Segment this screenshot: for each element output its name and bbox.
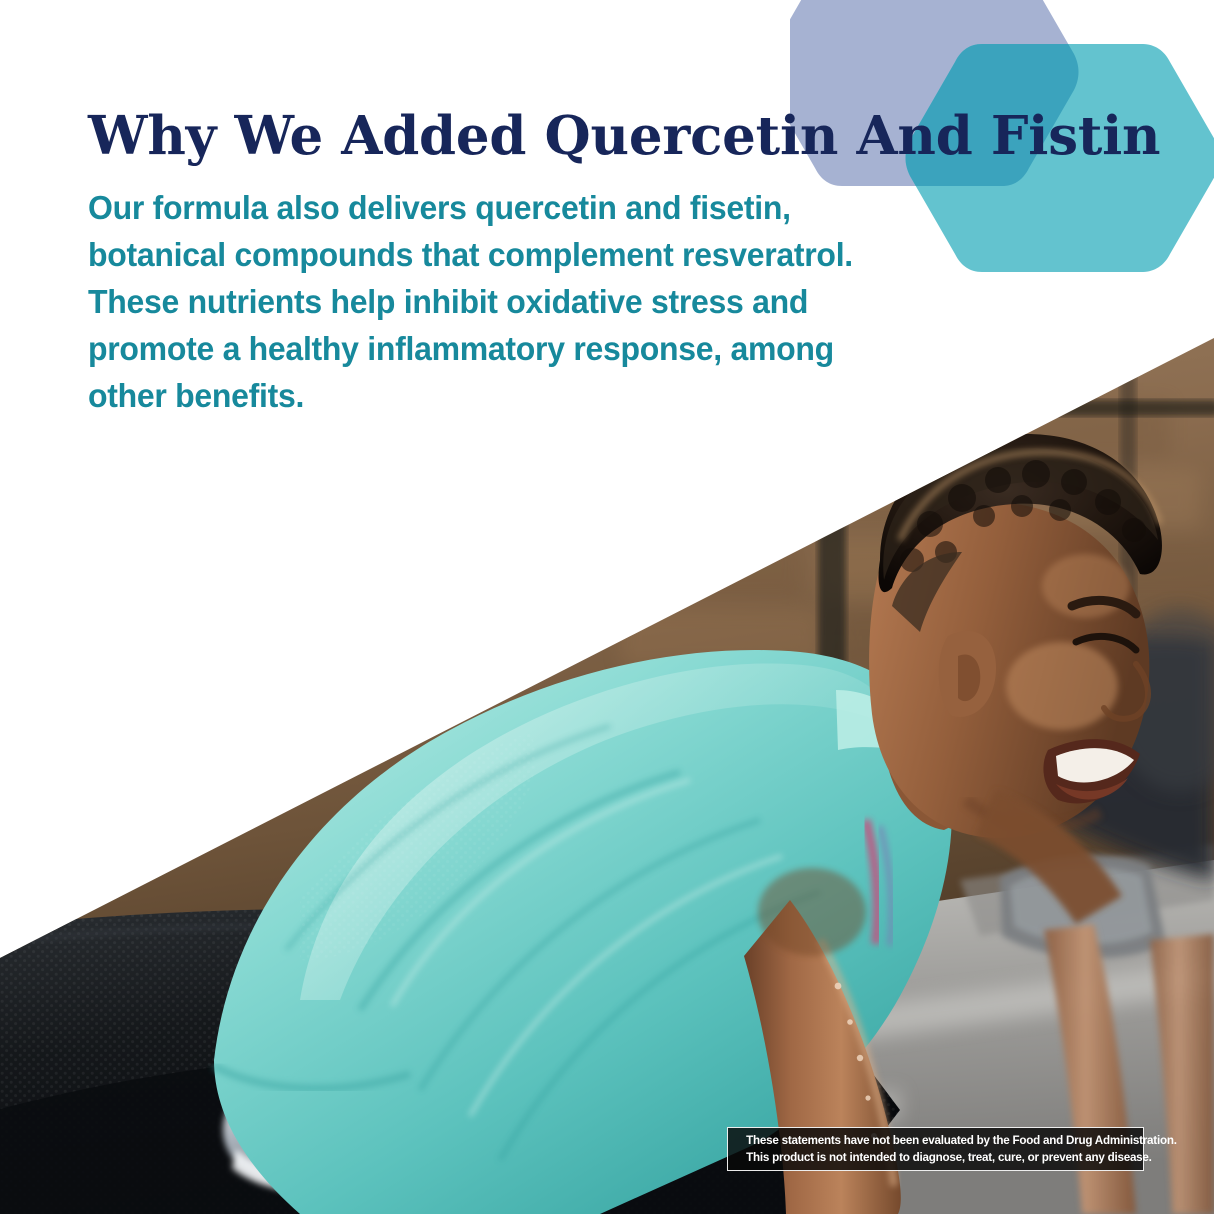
body-copy-line: botanical compounds that complement resv… — [88, 233, 957, 280]
disclaimer-line: These statements have not been evaluated… — [746, 1132, 1125, 1149]
fda-disclaimer: These statements have not been evaluated… — [727, 1127, 1144, 1171]
page-title: Why We Added Quercetin And Fistin — [88, 108, 998, 164]
body-copy-line: Our formula also delivers quercetin and … — [88, 186, 957, 233]
body-copy-line: other benefits. — [88, 374, 957, 421]
content-text-block: Why We Added Quercetin And Fistin Our fo… — [88, 108, 998, 421]
disclaimer-line: This product is not intended to diagnose… — [746, 1149, 1125, 1166]
body-copy-line: These nutrients help inhibit oxidative s… — [88, 280, 957, 327]
body-copy-line: promote a healthy inflammatory response,… — [88, 327, 957, 374]
body-copy: Our formula also delivers quercetin and … — [88, 186, 957, 420]
